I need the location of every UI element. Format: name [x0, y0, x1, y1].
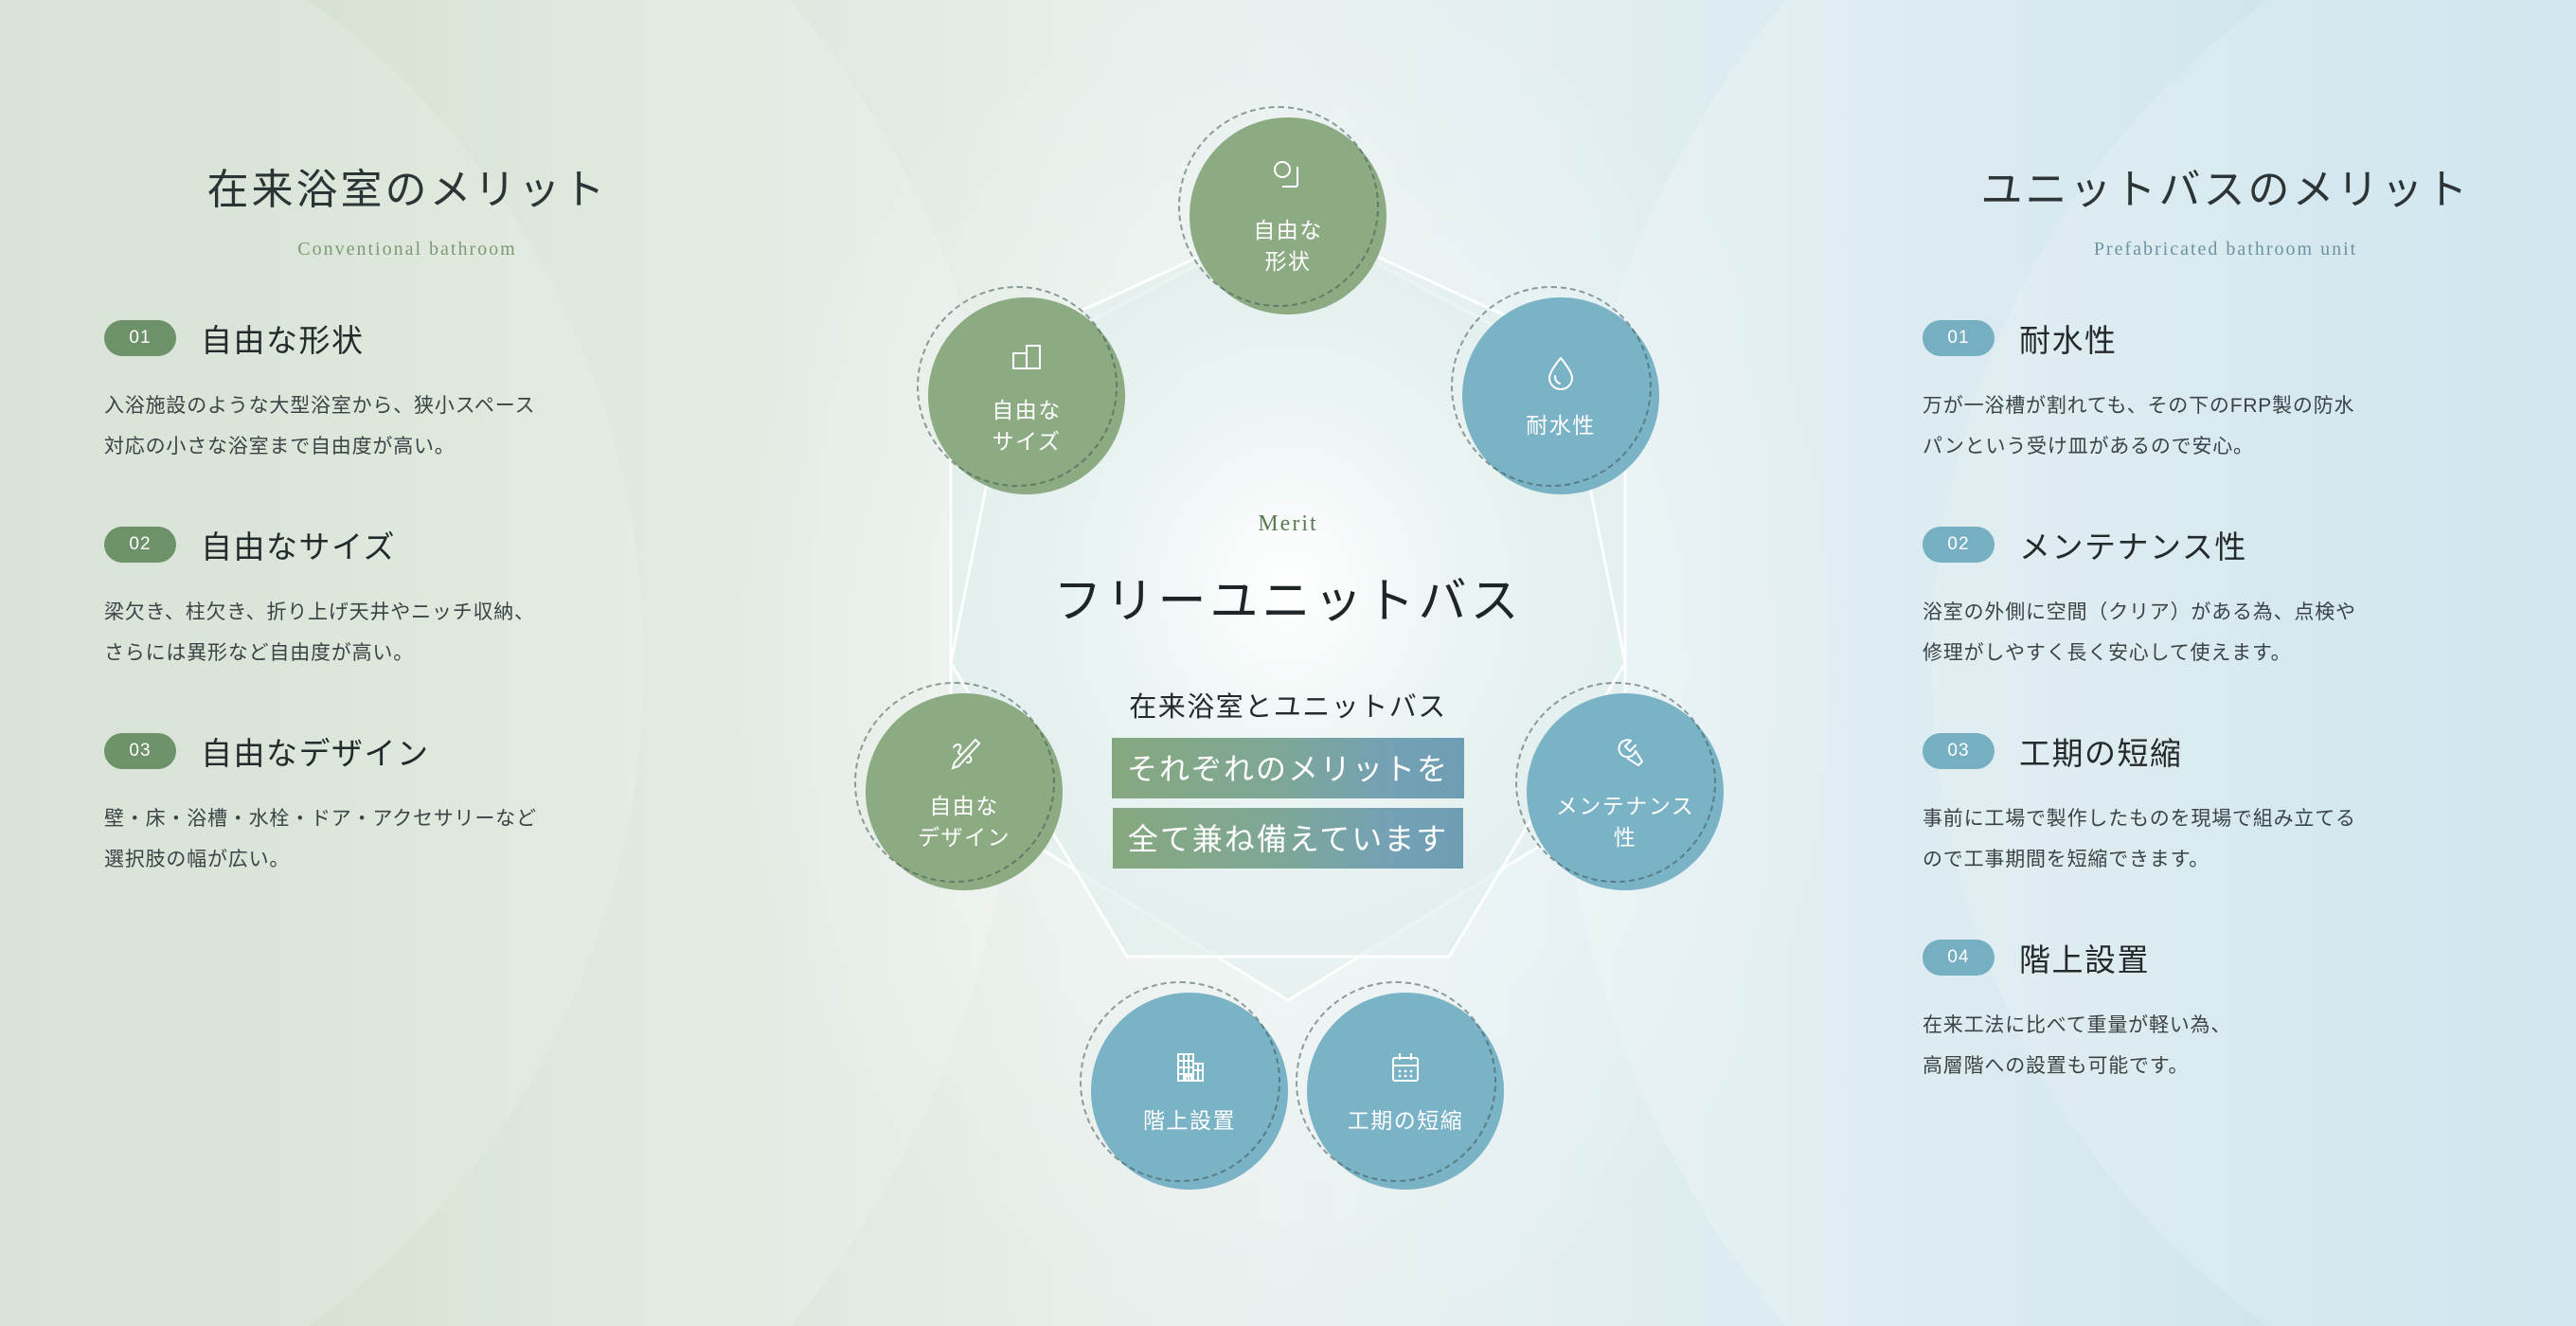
- right-item-02: 02 メンテナンス性 浴室の外側に空間（クリア）がある為、点検や 修理がしやすく…: [1923, 522, 2529, 673]
- node-upper-floor[interactable]: 階上設置: [1091, 993, 1288, 1190]
- right-item-04-title: 階上設置: [2019, 935, 2150, 980]
- left-item-03-head: 03 自由なデザイン: [104, 728, 710, 774]
- right-item-04: 04 階上設置 在来工法に比べて重量が軽い為、 高層階への設置も可能です。: [1923, 935, 2529, 1086]
- left-item-03-title: 自由なデザイン: [201, 728, 430, 774]
- right-item-04-head: 04 階上設置: [1923, 935, 2529, 980]
- left-item-03-badge: 03: [104, 733, 176, 769]
- left-item-02-badge: 02: [104, 527, 176, 563]
- pencil-icon: [941, 730, 987, 776]
- left-item-02-head: 02 自由なサイズ: [104, 522, 710, 567]
- left-item-01-badge: 01: [104, 320, 176, 356]
- calendar-icon: [1383, 1045, 1428, 1090]
- left-item-02: 02 自由なサイズ 梁欠き、柱欠き、折り上げ天井やニッチ収納、 さらには異形など…: [104, 522, 710, 673]
- left-item-01: 01 自由な形状 入浴施設のような大型浴室から、狭小スペース 対応の小さな浴室ま…: [104, 315, 710, 467]
- right-item-04-badge: 04: [1923, 940, 1995, 976]
- center-highlight-line-2: 全て兼ね備えています: [1113, 808, 1463, 869]
- node-maintenance[interactable]: メンテナンス 性: [1527, 693, 1724, 890]
- merit-eyebrow: Merit: [928, 511, 1648, 537]
- bars-size-icon: [1004, 334, 1049, 380]
- node-free-shape[interactable]: 自由な 形状: [1190, 117, 1386, 314]
- free-shape-icon: [1265, 154, 1311, 200]
- right-item-02-head: 02 メンテナンス性: [1923, 522, 2529, 567]
- node-free-size[interactable]: 自由な サイズ: [928, 297, 1125, 494]
- right-item-03-body: 事前に工場で製作したものを現場で組み立てる ので工事期間を短縮できます。: [1923, 798, 2529, 880]
- node-water-resistance-label: 耐水性: [1526, 410, 1596, 441]
- merit-wheel-diagram: Merit フリーユニットバス 在来浴室とユニットバス それぞれのメリットを 全…: [663, 0, 1913, 1326]
- node-short-period[interactable]: 工期の短縮: [1307, 993, 1504, 1190]
- right-column-title: ユニットバスのメリット: [1923, 166, 2529, 216]
- right-item-01: 01 耐水性 万が一浴槽が割れても、その下のFRP製の防水 パンという受け皿があ…: [1923, 315, 2529, 467]
- node-free-shape-label: 自由な 形状: [1253, 215, 1323, 278]
- left-item-01-title: 自由な形状: [201, 315, 365, 361]
- right-item-02-title: メンテナンス性: [2019, 522, 2247, 567]
- right-item-03-head: 03 工期の短縮: [1923, 728, 2529, 774]
- left-item-01-body: 入浴施設のような大型浴室から、狭小スペース 対応の小さな浴室まで自由度が高い。: [104, 385, 710, 467]
- right-item-03-title: 工期の短縮: [2019, 728, 2183, 774]
- left-column: 在来浴室のメリット Conventional bathroom 01 自由な形状…: [104, 0, 710, 1326]
- node-maintenance-label: メンテナンス 性: [1556, 791, 1695, 854]
- right-item-03-badge: 03: [1923, 733, 1995, 769]
- left-item-02-title: 自由なサイズ: [201, 522, 396, 567]
- node-free-design[interactable]: 自由な デザイン: [866, 693, 1063, 890]
- right-item-02-badge: 02: [1923, 527, 1995, 563]
- wrench-icon: [1602, 730, 1648, 776]
- left-column-title: 在来浴室のメリット: [104, 166, 710, 216]
- left-column-subtitle: Conventional bathroom: [104, 239, 710, 260]
- left-item-03-body: 壁・床・浴槽・水栓・ドア・アクセサリーなど 選択肢の幅が広い。: [104, 798, 710, 880]
- center-headline: フリーユニットバス: [928, 562, 1648, 632]
- right-item-04-body: 在来工法に比べて重量が軽い為、 高層階への設置も可能です。: [1923, 1005, 2529, 1086]
- node-free-size-label: 自由な サイズ: [992, 395, 1062, 458]
- node-short-period-label: 工期の短縮: [1348, 1105, 1464, 1137]
- node-free-design-label: 自由な デザイン: [918, 791, 1011, 854]
- right-item-02-body: 浴室の外側に空間（クリア）がある為、点検や 修理がしやすく長く安心して使えます。: [1923, 592, 2529, 673]
- center-highlight-line-1: それぞれのメリットを: [1112, 738, 1464, 798]
- left-item-03: 03 自由なデザイン 壁・床・浴槽・水栓・ドア・アクセサリーなど 選択肢の幅が広…: [104, 728, 710, 880]
- right-item-01-badge: 01: [1923, 320, 1995, 356]
- right-column-subtitle: Prefabricated bathroom unit: [1923, 239, 2529, 260]
- right-item-01-head: 01 耐水性: [1923, 315, 2529, 361]
- right-column: ユニットバスのメリット Prefabricated bathroom unit …: [1923, 0, 2529, 1326]
- right-item-01-body: 万が一浴槽が割れても、その下のFRP製の防水 パンという受け皿があるので安心。: [1923, 385, 2529, 467]
- building-icon: [1167, 1045, 1212, 1090]
- node-upper-floor-label: 階上設置: [1143, 1105, 1236, 1137]
- left-item-02-body: 梁欠き、柱欠き、折り上げ天井やニッチ収納、 さらには異形など自由度が高い。: [104, 592, 710, 673]
- left-item-01-head: 01 自由な形状: [104, 315, 710, 361]
- right-item-03: 03 工期の短縮 事前に工場で製作したものを現場で組み立てる ので工事期間を短縮…: [1923, 728, 2529, 880]
- water-drop-icon: [1538, 349, 1583, 395]
- infographic-page: 在来浴室のメリット Conventional bathroom 01 自由な形状…: [0, 0, 2576, 1326]
- node-water-resistance[interactable]: 耐水性: [1462, 297, 1659, 494]
- right-item-01-title: 耐水性: [2019, 315, 2118, 361]
